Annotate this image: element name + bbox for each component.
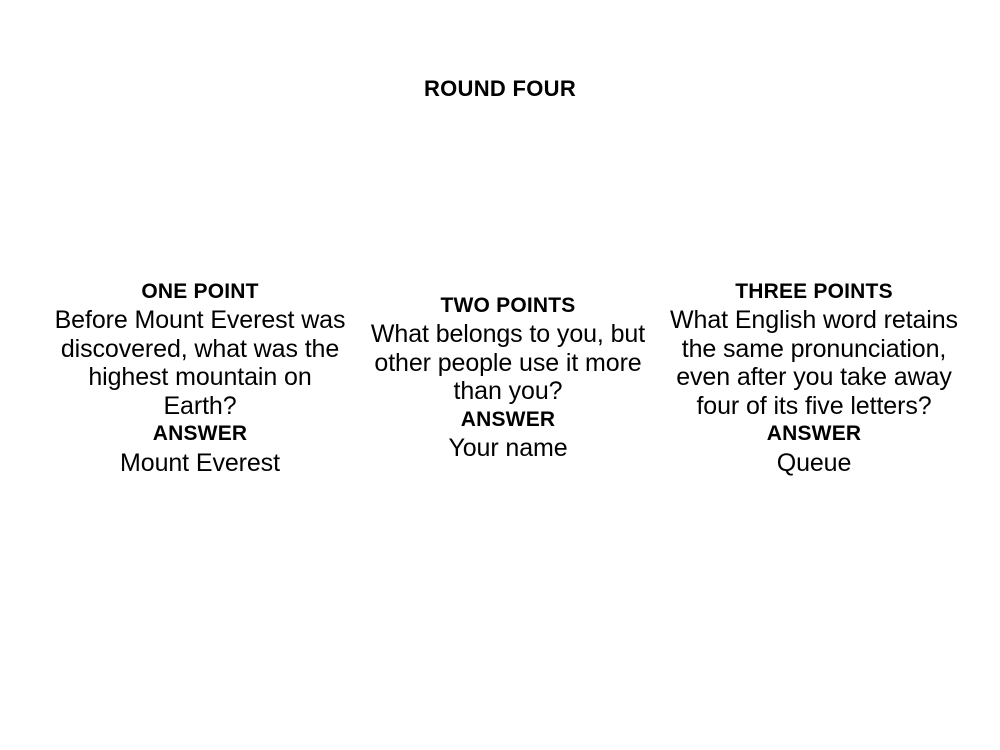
question-column-one-point: ONE POINT Before Mount Everest was disco… bbox=[52, 278, 348, 477]
question-column-two-points: TWO POINTS What belongs to you, but othe… bbox=[368, 292, 648, 463]
answer-label: ANSWER bbox=[368, 406, 648, 435]
answer-text: Mount Everest bbox=[52, 449, 348, 478]
quiz-slide: ROUND FOUR ONE POINT Before Mount Everes… bbox=[0, 0, 1000, 750]
questions-container: ONE POINT Before Mount Everest was disco… bbox=[0, 270, 1000, 530]
answer-text: Queue bbox=[668, 449, 960, 478]
answer-label: ANSWER bbox=[52, 420, 348, 449]
answer-text: Your name bbox=[368, 434, 648, 463]
question-text: What belongs to you, but other people us… bbox=[368, 320, 648, 406]
answer-label: ANSWER bbox=[668, 420, 960, 449]
points-header: ONE POINT bbox=[52, 278, 348, 306]
question-text: Before Mount Everest was discovered, wha… bbox=[52, 306, 348, 420]
question-text: What English word retains the same pronu… bbox=[668, 306, 960, 420]
question-column-three-points: THREE POINTS What English word retains t… bbox=[668, 278, 960, 477]
points-header: THREE POINTS bbox=[668, 278, 960, 306]
points-header: TWO POINTS bbox=[368, 292, 648, 320]
page-title: ROUND FOUR bbox=[0, 76, 1000, 102]
